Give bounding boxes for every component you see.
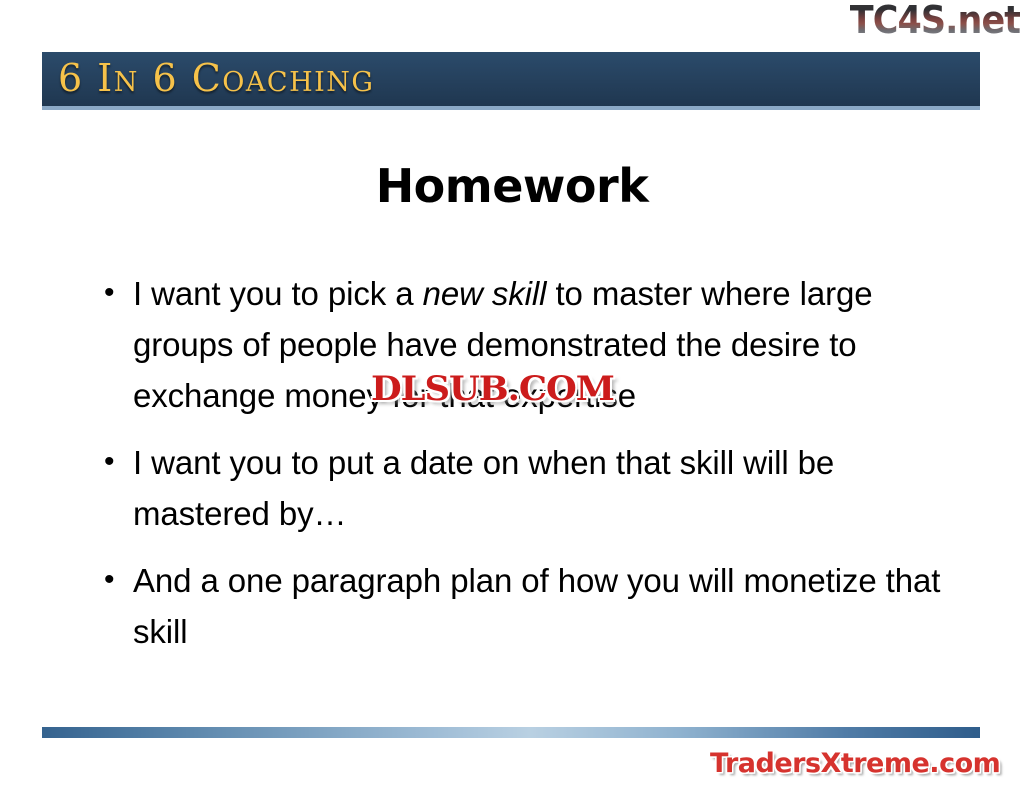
dlsub-overlay-watermark: DLSUB.COM	[371, 371, 614, 407]
presentation-slide: TC4S.net 6 In 6 Coaching Homework I want…	[0, 0, 1024, 791]
bullet-text-prefix: I want you to pick a	[133, 275, 423, 312]
bullet-text-emphasis: new skill	[423, 275, 547, 312]
page-title: Homework	[0, 158, 1024, 214]
tradersxtreme-footer-watermark: TradersXtreme.com	[710, 748, 1000, 780]
bullet-text-prefix: And a one paragraph plan of how you will…	[133, 562, 940, 650]
slide-footer-bar	[42, 727, 980, 738]
list-item: And a one paragraph plan of how you will…	[96, 555, 952, 657]
header-banner-title: 6 In 6 Coaching	[58, 56, 375, 100]
bullet-text-prefix: I want you to put a date on when that sk…	[133, 444, 834, 532]
tc4s-site-watermark: TC4S.net	[850, 0, 1020, 42]
list-item: I want you to put a date on when that sk…	[96, 437, 952, 539]
bullet-list: I want you to pick a new skill to master…	[96, 268, 952, 673]
slide-header-banner: 6 In 6 Coaching	[42, 52, 980, 110]
